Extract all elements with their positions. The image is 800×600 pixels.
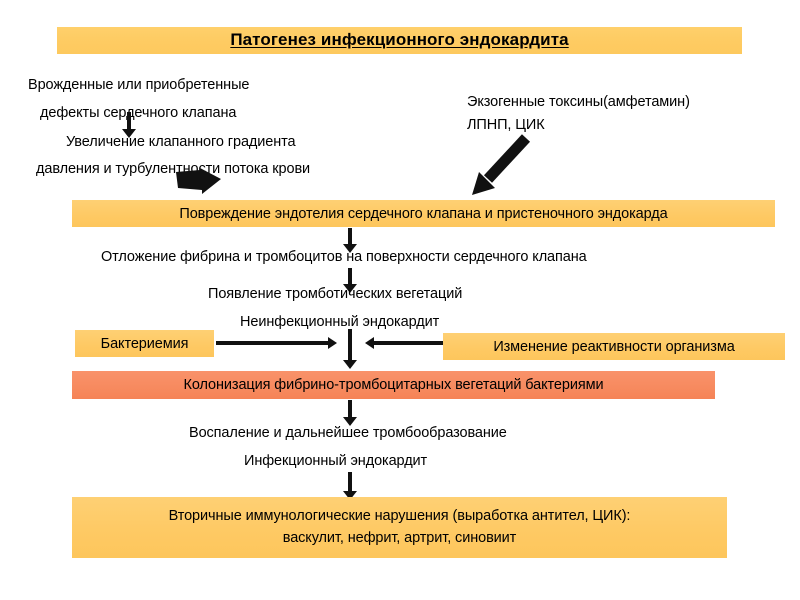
band-secondary-disorders-line1: Вторичные иммунологические нарушения (вы… — [169, 506, 631, 527]
text-valve-gradient-line1: Увеличение клапанного градиента — [66, 134, 295, 150]
page-title-text: Патогенез инфекционного эндокардита — [230, 30, 568, 50]
text-valve-gradient-line2: давления и турбулентности потока крови — [36, 161, 310, 177]
down-arrow-vegetations — [343, 329, 357, 369]
left-arrow-reactivity — [365, 337, 443, 349]
down-arrow-valve-defect — [122, 112, 136, 138]
down-arrow-colonization — [343, 400, 357, 426]
text-congenital-defects-line2: дефекты сердечного клапана — [40, 105, 236, 121]
down-arrow-endocarditis — [343, 472, 357, 500]
text-noninfective-endocarditis: Неинфекционный эндокардит — [240, 314, 439, 330]
text-congenital-defects-line1: Врожденные или приобретенные — [28, 77, 249, 93]
text-exogenous-toxins: Экзогенные токсины(амфетамин) — [467, 94, 690, 110]
text-fibrin-deposition: Отложение фибрина и тромбоцитов на повер… — [101, 249, 587, 265]
text-ldl-cic: ЛПНП, ЦИК — [467, 117, 545, 133]
page-title: Патогенез инфекционного эндокардита — [57, 26, 742, 54]
band-secondary-disorders-label: Вторичные иммунологические нарушения (вы… — [72, 497, 727, 558]
text-infective-endocarditis: Инфекционный эндокардит — [244, 453, 427, 469]
text-thrombotic-vegetations: Появление тромботических вегетаций — [208, 286, 462, 302]
text-inflammation: Воспаление и дальнейшее тромбообразовани… — [189, 425, 507, 441]
band-secondary-disorders-line2: васкулит, нефрит, артрит, синовиит — [283, 528, 516, 549]
diagonal-arrow-toxins — [466, 133, 532, 199]
block-arrow-turbulence — [176, 168, 222, 196]
slide-canvas: Патогенез инфекционного эндокардита Врож… — [0, 0, 800, 600]
band-endothelium-damage-label: Повреждение эндотелия сердечного клапана… — [72, 200, 775, 227]
band-colonization-label: Колонизация фибрино-тромбоцитарных вегет… — [72, 371, 715, 399]
box-reactivity-change-label: Изменение реактивности организма — [443, 333, 785, 360]
right-arrow-bacteremia — [216, 337, 337, 349]
box-bacteremia-label: Бактериемия — [75, 330, 214, 357]
